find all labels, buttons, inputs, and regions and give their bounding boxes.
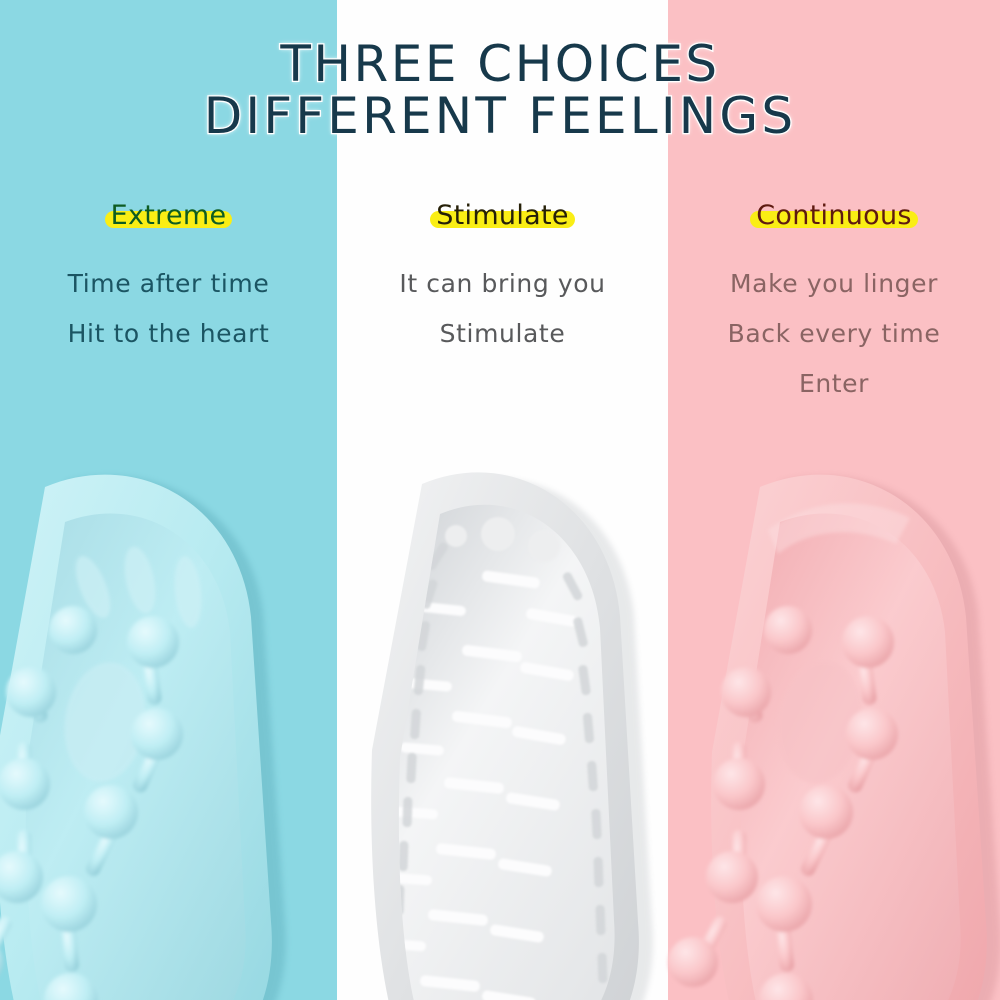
body-line: Time after time: [0, 259, 337, 309]
body-extreme: Time after time Hit to the heart: [0, 259, 337, 359]
column-stimulate: Stimulate It can bring you Stimulate: [337, 200, 668, 359]
heading-stimulate: Stimulate: [436, 200, 569, 231]
column-extreme: Extreme Time after time Hit to the heart: [0, 200, 337, 359]
body-line: Stimulate: [337, 309, 668, 359]
heading-extreme: Extreme: [111, 200, 227, 231]
body-line: It can bring you: [337, 259, 668, 309]
body-stimulate: It can bring you Stimulate: [337, 259, 668, 359]
column-continuous: Continuous Make you linger Back every ti…: [668, 200, 1000, 409]
heading-continuous: Continuous: [756, 200, 912, 231]
feature-columns: Extreme Time after time Hit to the heart…: [0, 0, 1000, 1000]
heading-continuous-wrap: Continuous: [750, 200, 918, 231]
body-line: Back every time: [668, 309, 1000, 359]
body-line: Enter: [668, 359, 1000, 409]
heading-extreme-wrap: Extreme: [105, 200, 233, 231]
body-line: Hit to the heart: [0, 309, 337, 359]
body-line: Make you linger: [668, 259, 1000, 309]
body-continuous: Make you linger Back every time Enter: [668, 259, 1000, 409]
heading-stimulate-wrap: Stimulate: [430, 200, 575, 231]
promo-banner: THREE CHOICES DIFFERENT FEELINGS Extreme…: [0, 0, 1000, 1000]
